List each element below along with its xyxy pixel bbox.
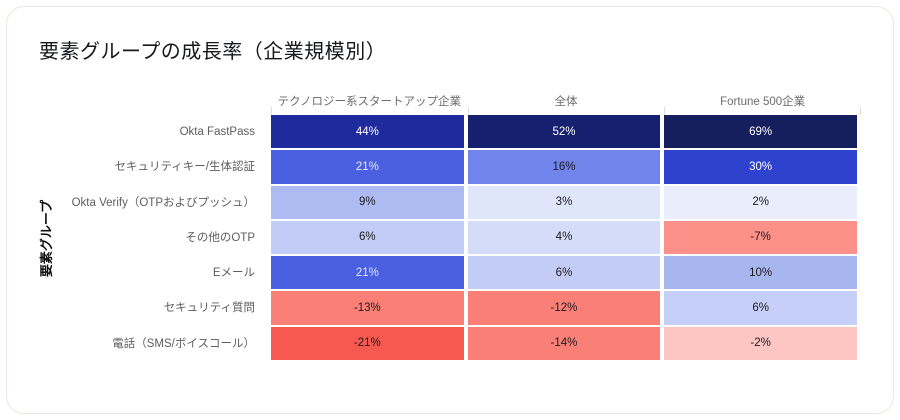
y-axis-tick-label: Okta FastPass xyxy=(180,115,255,150)
y-axis-tick-label: 電話（SMS/ボイスコール） xyxy=(112,327,255,362)
heatmap-plot: テクノロジー系スタートアップ企業全体Fortune 500企業44%52%69%… xyxy=(271,115,861,362)
heatmap-cell[interactable]: -14% xyxy=(468,327,661,360)
heatmap-cell[interactable]: 9% xyxy=(271,186,464,219)
heatmap-cell[interactable]: -2% xyxy=(664,327,857,360)
page-title: 要素グループの成長率（企業規模別） xyxy=(39,35,386,64)
y-axis-tick-label: Okta Verify（OTPおよびプッシュ） xyxy=(72,186,255,221)
heatmap-cell[interactable]: 16% xyxy=(468,150,661,183)
y-axis-tick-label: セキュリティ質問 xyxy=(164,291,255,326)
chart-card: 要素グループの成長率（企業規模別） 要素グループ Okta FastPassセキ… xyxy=(6,6,894,414)
y-axis-title: 要素グループ xyxy=(37,115,55,362)
y-axis-tick-label: Eメール xyxy=(213,256,255,291)
heatmap-cell[interactable]: 69% xyxy=(664,115,857,148)
x-axis-tick-label: Fortune 500企業 xyxy=(664,93,861,109)
heatmap-cell[interactable]: 30% xyxy=(664,150,857,183)
x-axis-tick-label: 全体 xyxy=(468,93,665,109)
heatmap-cell[interactable]: 6% xyxy=(664,291,857,324)
y-axis-tick-labels: Okta FastPassセキュリティキー/生体認証Okta Verify（OT… xyxy=(71,115,265,362)
x-axis-tick xyxy=(664,107,665,115)
heatmap-cell[interactable]: 6% xyxy=(271,221,464,254)
heatmap-cell[interactable]: 21% xyxy=(271,256,464,289)
heatmap-cell[interactable]: -13% xyxy=(271,291,464,324)
heatmap-cell[interactable]: 21% xyxy=(271,150,464,183)
heatmap-cell[interactable]: -21% xyxy=(271,327,464,360)
heatmap-cell[interactable]: 10% xyxy=(664,256,857,289)
heatmap-cell[interactable]: 52% xyxy=(468,115,661,148)
x-axis-tick xyxy=(468,107,469,115)
y-axis-tick-label: セキュリティキー/生体認証 xyxy=(114,150,255,185)
x-axis-tick-label: テクノロジー系スタートアップ企業 xyxy=(271,93,468,109)
heatmap-cell[interactable]: 44% xyxy=(271,115,464,148)
y-axis-title-label: 要素グループ xyxy=(37,200,56,277)
heatmap-cell[interactable]: 2% xyxy=(664,186,857,219)
heatmap-cell[interactable]: 4% xyxy=(468,221,661,254)
heatmap-cell[interactable]: -7% xyxy=(664,221,857,254)
heatmap-cell[interactable]: 3% xyxy=(468,186,661,219)
y-axis-tick-label: その他のOTP xyxy=(185,221,255,256)
heatmap-cell[interactable]: -12% xyxy=(468,291,661,324)
x-axis-tick xyxy=(860,107,861,115)
x-axis-tick xyxy=(271,107,272,115)
heatmap-cell[interactable]: 6% xyxy=(468,256,661,289)
